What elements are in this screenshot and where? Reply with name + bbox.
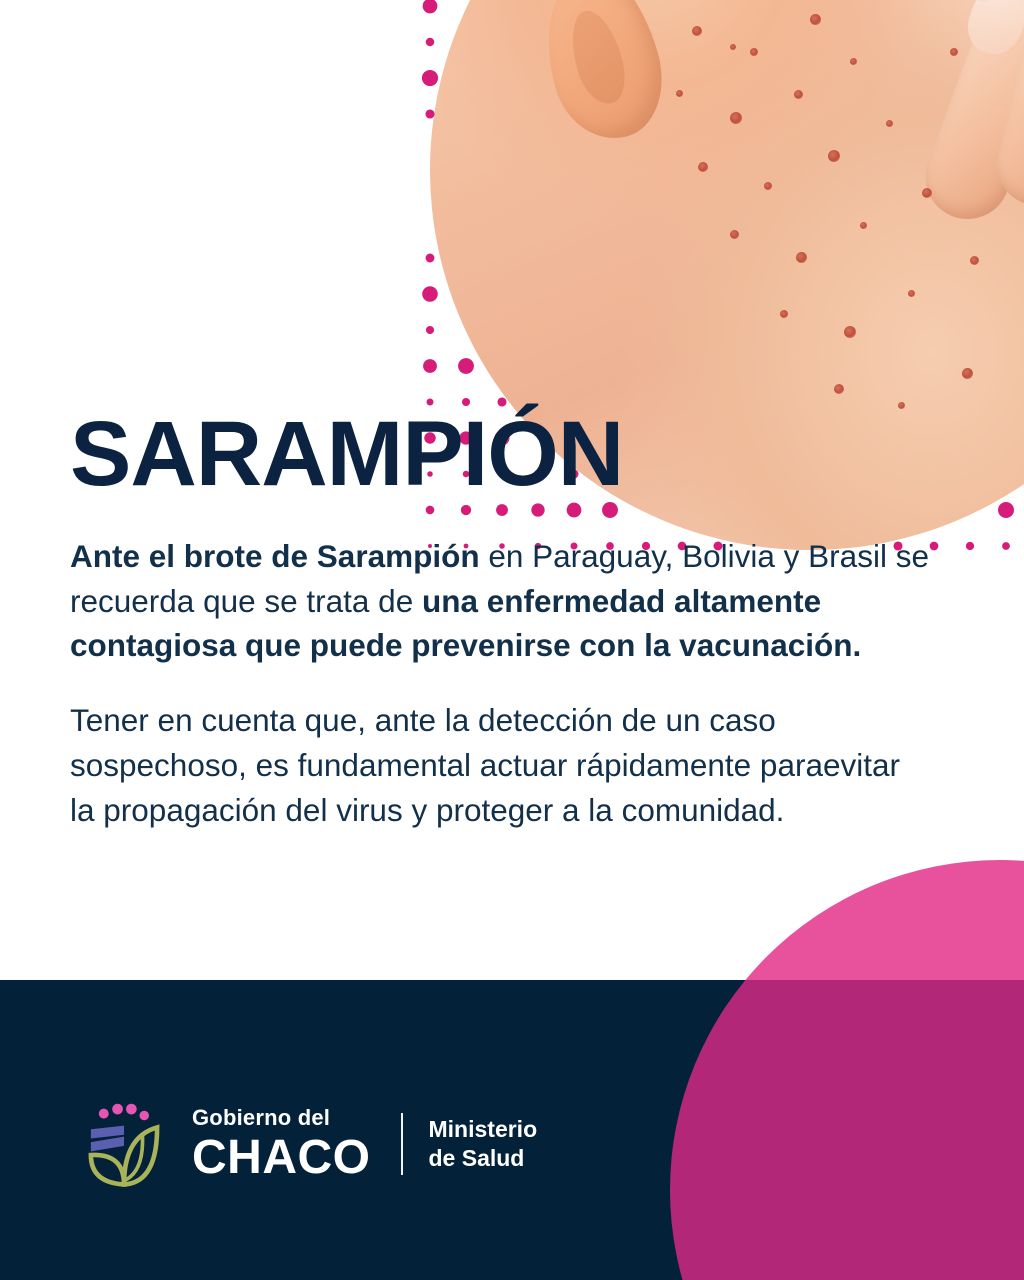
- chaco-field-leaf-icon: [78, 1098, 170, 1190]
- chaco-label: CHACO: [192, 1134, 371, 1182]
- ministry-line-1: Ministerio: [429, 1115, 538, 1144]
- paragraph1-bold-lead: Ante el brote de Sarampión: [70, 538, 480, 574]
- main-content: SARAMPIÓN Ante el brote de Sarampión en …: [70, 408, 975, 862]
- ministry-wordmark: Ministerio de Salud: [429, 1115, 538, 1174]
- page-title: SARAMPIÓN: [70, 408, 975, 500]
- paragraph-action: Tener en cuenta que, ante la detección d…: [70, 698, 930, 832]
- government-wordmark: Gobierno del CHACO: [192, 1107, 371, 1182]
- paragraph-outbreak: Ante el brote de Sarampión en Paraguay, …: [70, 534, 960, 668]
- logo-divider: [401, 1113, 403, 1175]
- ministry-line-2: de Salud: [429, 1144, 538, 1173]
- poster-canvas: SARAMPIÓN Ante el brote de Sarampión en …: [0, 0, 1024, 1280]
- logo-lockup: Gobierno del CHACO Ministerio de Salud: [78, 1098, 537, 1190]
- gobierno-del-label: Gobierno del: [192, 1107, 371, 1129]
